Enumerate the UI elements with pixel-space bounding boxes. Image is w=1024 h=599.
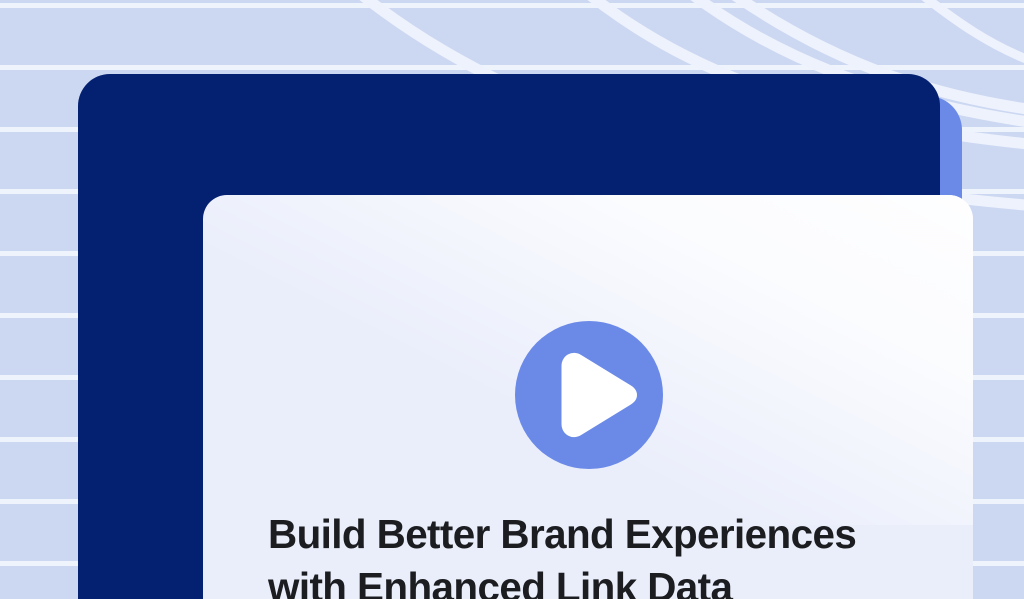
play-icon bbox=[515, 321, 663, 469]
headline-line-2: with Enhanced Link Data bbox=[268, 561, 918, 599]
device-screen: Build Better Brand Experiences with Enha… bbox=[203, 195, 973, 599]
play-button[interactable] bbox=[515, 321, 663, 469]
page-title: Build Better Brand Experiences with Enha… bbox=[268, 508, 918, 599]
headline-line-1: Build Better Brand Experiences bbox=[268, 508, 918, 561]
device-frame: Build Better Brand Experiences with Enha… bbox=[78, 74, 940, 599]
screenshot-stage: Build Better Brand Experiences with Enha… bbox=[0, 0, 1024, 599]
